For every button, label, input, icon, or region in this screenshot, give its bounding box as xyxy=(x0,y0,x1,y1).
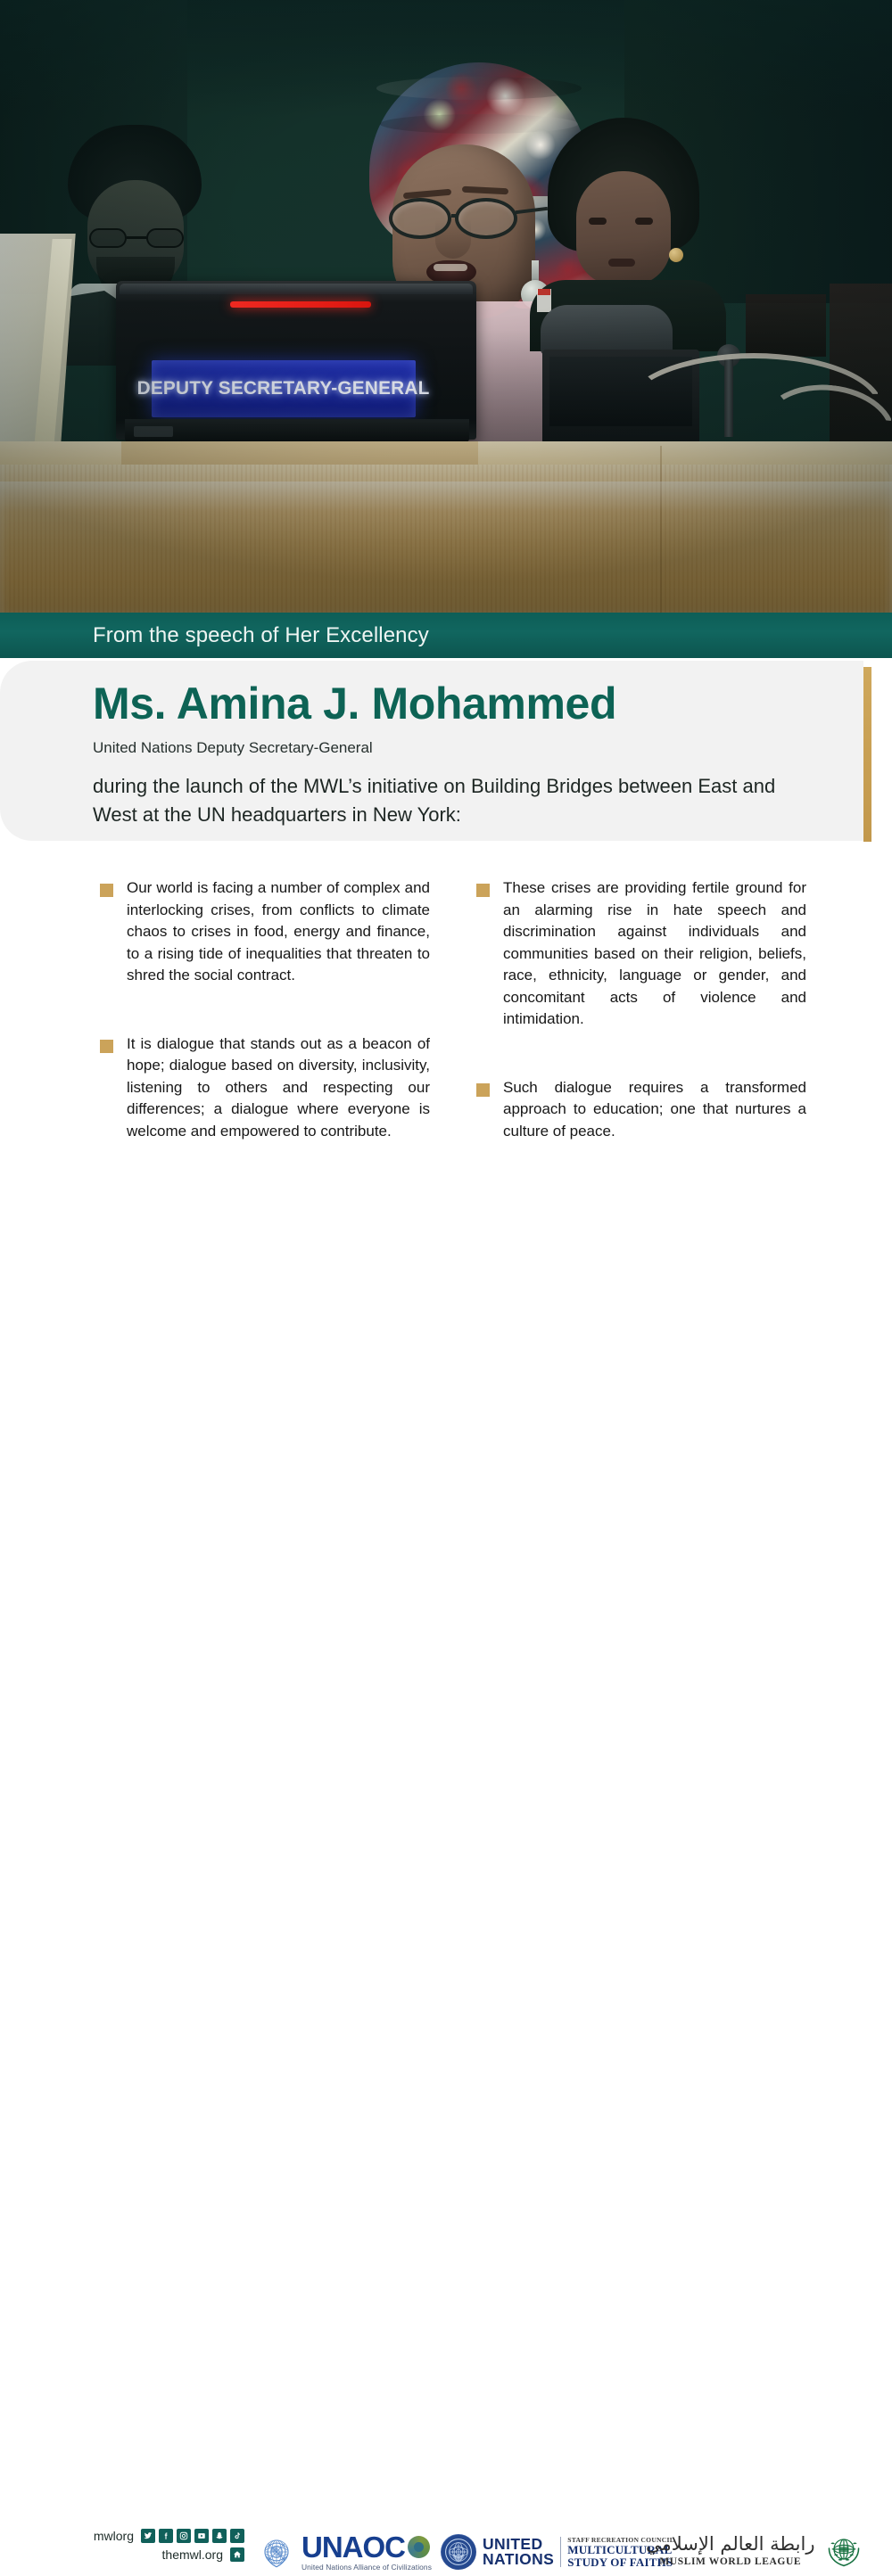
social-block: mwlorg themwl.org xyxy=(93,2529,244,2562)
quote-text: It is dialogue that stands out as a beac… xyxy=(127,1033,430,1143)
nameplate-base-tag xyxy=(134,426,173,437)
social-row-website: themwl.org xyxy=(93,2547,244,2562)
mwl-english-name: MUSLIM WORLD LEAGUE xyxy=(659,2556,801,2567)
quote-item: Such dialogue requires a transformed app… xyxy=(469,1077,806,1143)
man-glasses-icon xyxy=(89,228,184,248)
website-label: themwl.org xyxy=(162,2547,223,2562)
speaker-glasses-icon xyxy=(389,198,546,239)
un-line-1: UNITED xyxy=(483,2537,554,2552)
youtube-icon[interactable] xyxy=(194,2529,209,2543)
bullet-square-icon xyxy=(100,1040,113,1053)
woman-face xyxy=(576,171,671,285)
quote-column-right: These crises are providing fertile groun… xyxy=(469,877,806,1189)
mwl-text: رابطة العالم الإسلامي MUSLIM WORLD LEAGU… xyxy=(646,2532,814,2567)
unaoc-acronym-row: UNAOC xyxy=(301,2532,432,2562)
speech-context: during the launch of the MWL’s initiativ… xyxy=(93,772,808,829)
paper-tag-red-strip xyxy=(538,289,550,295)
woman-eye-left xyxy=(589,218,607,225)
quote-column-left: Our world is facing a number of complex … xyxy=(93,877,430,1189)
nameplate-text: DEPUTY SECRETARY-GENERAL xyxy=(137,378,430,399)
equipment-box-right xyxy=(746,294,826,357)
quote-item: These crises are providing fertile groun… xyxy=(469,877,806,1031)
un-emblem-icon xyxy=(257,2532,296,2572)
un-wordmark: UNITED NATIONS xyxy=(483,2537,554,2567)
mwl-logo: رابطة العالم الإسلامي MUSLIM WORLD LEAGU… xyxy=(646,2529,864,2570)
unaoc-logo: UNAOC United Nations Alliance of Civiliz… xyxy=(257,2532,432,2572)
woman-earring xyxy=(669,248,683,262)
bullet-square-icon xyxy=(476,1083,490,1097)
banner-label: From the speech of Her Excellency xyxy=(93,623,429,648)
desk-highlight xyxy=(0,481,892,512)
un-seal-icon xyxy=(441,2534,476,2570)
speech-banner: From the speech of Her Excellency xyxy=(0,613,892,658)
footer: mwlorg themwl.org xyxy=(0,1259,892,1332)
twitter-icon[interactable] xyxy=(141,2529,155,2543)
nameplate-base xyxy=(125,419,469,442)
page-title: Ms. Amina J. Mohammed xyxy=(93,678,616,729)
home-icon[interactable] xyxy=(230,2547,244,2562)
snapchat-icon[interactable] xyxy=(212,2529,227,2543)
facebook-icon[interactable] xyxy=(159,2529,173,2543)
monitor-red-led xyxy=(230,301,371,308)
logo-divider xyxy=(560,2537,561,2567)
un-line-2: NATIONS xyxy=(483,2552,554,2567)
microphone-console xyxy=(541,305,673,355)
unaoc-acronym: UNAOC xyxy=(301,2532,405,2562)
monitor-bezel xyxy=(120,284,473,294)
woman-mouth xyxy=(608,259,635,267)
desk-step xyxy=(121,441,478,465)
unaoc-text: UNAOC United Nations Alliance of Civiliz… xyxy=(301,2532,432,2572)
desk-seam xyxy=(660,446,662,613)
nameplate-display: DEPUTY SECRETARY-GENERAL xyxy=(152,360,416,417)
mwl-emblem-icon xyxy=(823,2529,864,2570)
bullet-square-icon xyxy=(476,884,490,897)
social-row-handles: mwlorg xyxy=(93,2529,244,2543)
headwrap-fold-1 xyxy=(376,77,582,100)
speaker-teeth xyxy=(434,264,467,271)
gold-accent-bar xyxy=(863,667,871,842)
bullet-square-icon xyxy=(100,884,113,897)
wooden-desk xyxy=(0,441,892,613)
quote-columns: Our world is facing a number of complex … xyxy=(93,877,806,1189)
mwl-arabic-name: رابطة العالم الإسلامي xyxy=(646,2532,814,2555)
quote-text: Our world is facing a number of complex … xyxy=(127,877,430,987)
quote-text: Such dialogue requires a transformed app… xyxy=(503,1077,806,1143)
unaoc-fullname: United Nations Alliance of Civilizations xyxy=(301,2563,432,2572)
quote-item: It is dialogue that stands out as a beac… xyxy=(93,1033,430,1143)
social-handle: mwlorg xyxy=(94,2529,134,2543)
speaker-role: United Nations Deputy Secretary-General xyxy=(93,739,373,757)
woman-eye-right xyxy=(635,218,653,225)
instagram-icon[interactable] xyxy=(177,2529,191,2543)
quote-item: Our world is facing a number of complex … xyxy=(93,877,430,987)
un-multicultural-logo: UNITED NATIONS STAFF RECREATION COUNCIL … xyxy=(441,2534,674,2570)
tiktok-icon[interactable] xyxy=(230,2529,244,2543)
hero-photo: DEPUTY SECRETARY-GENERAL xyxy=(0,0,892,613)
unaoc-ring-icon xyxy=(408,2536,430,2558)
quote-text: These crises are providing fertile groun… xyxy=(503,877,806,1031)
